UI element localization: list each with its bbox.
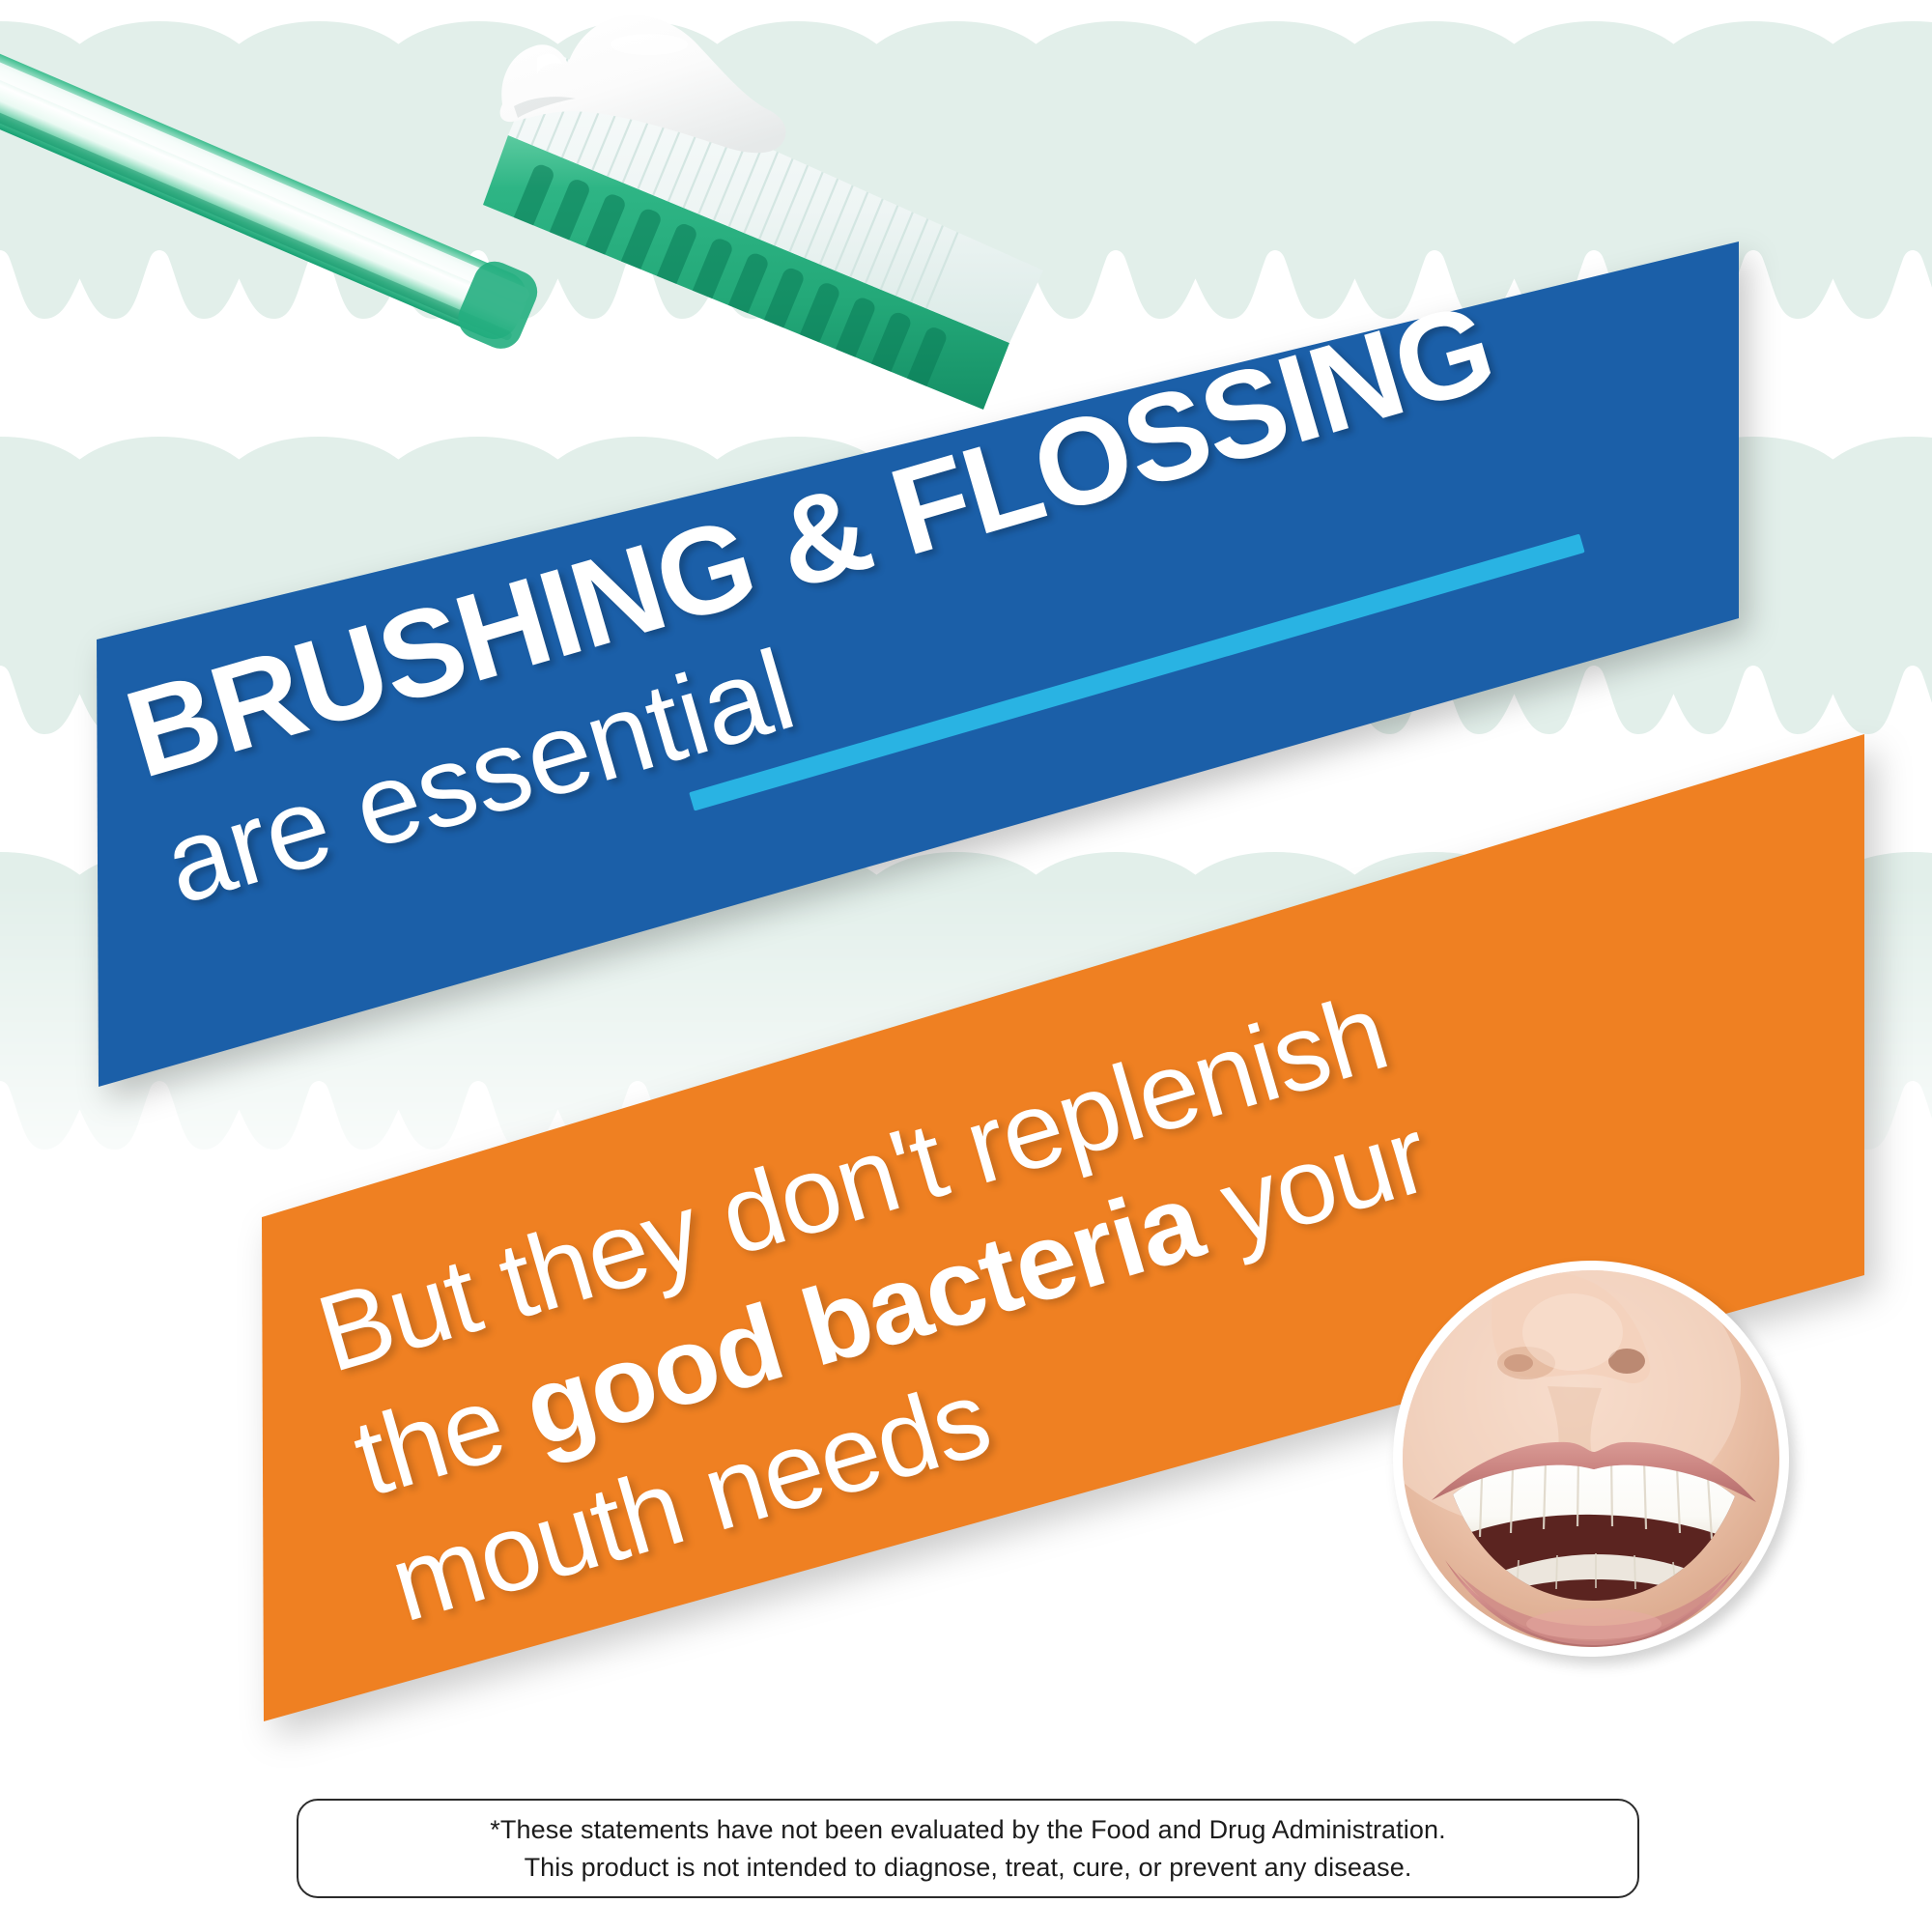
smile-photo-crop xyxy=(1403,1270,1779,1647)
disclaimer-line-1: *These statements have not been evaluate… xyxy=(490,1811,1445,1848)
smiling-mouth-photo xyxy=(1393,1261,1789,1657)
disclaimer-box: *These statements have not been evaluate… xyxy=(297,1799,1639,1898)
poster-canvas: BRUSHING & FLOSSING are essential But th… xyxy=(0,0,1932,1932)
disclaimer-line-2: This product is not intended to diagnose… xyxy=(525,1849,1412,1886)
